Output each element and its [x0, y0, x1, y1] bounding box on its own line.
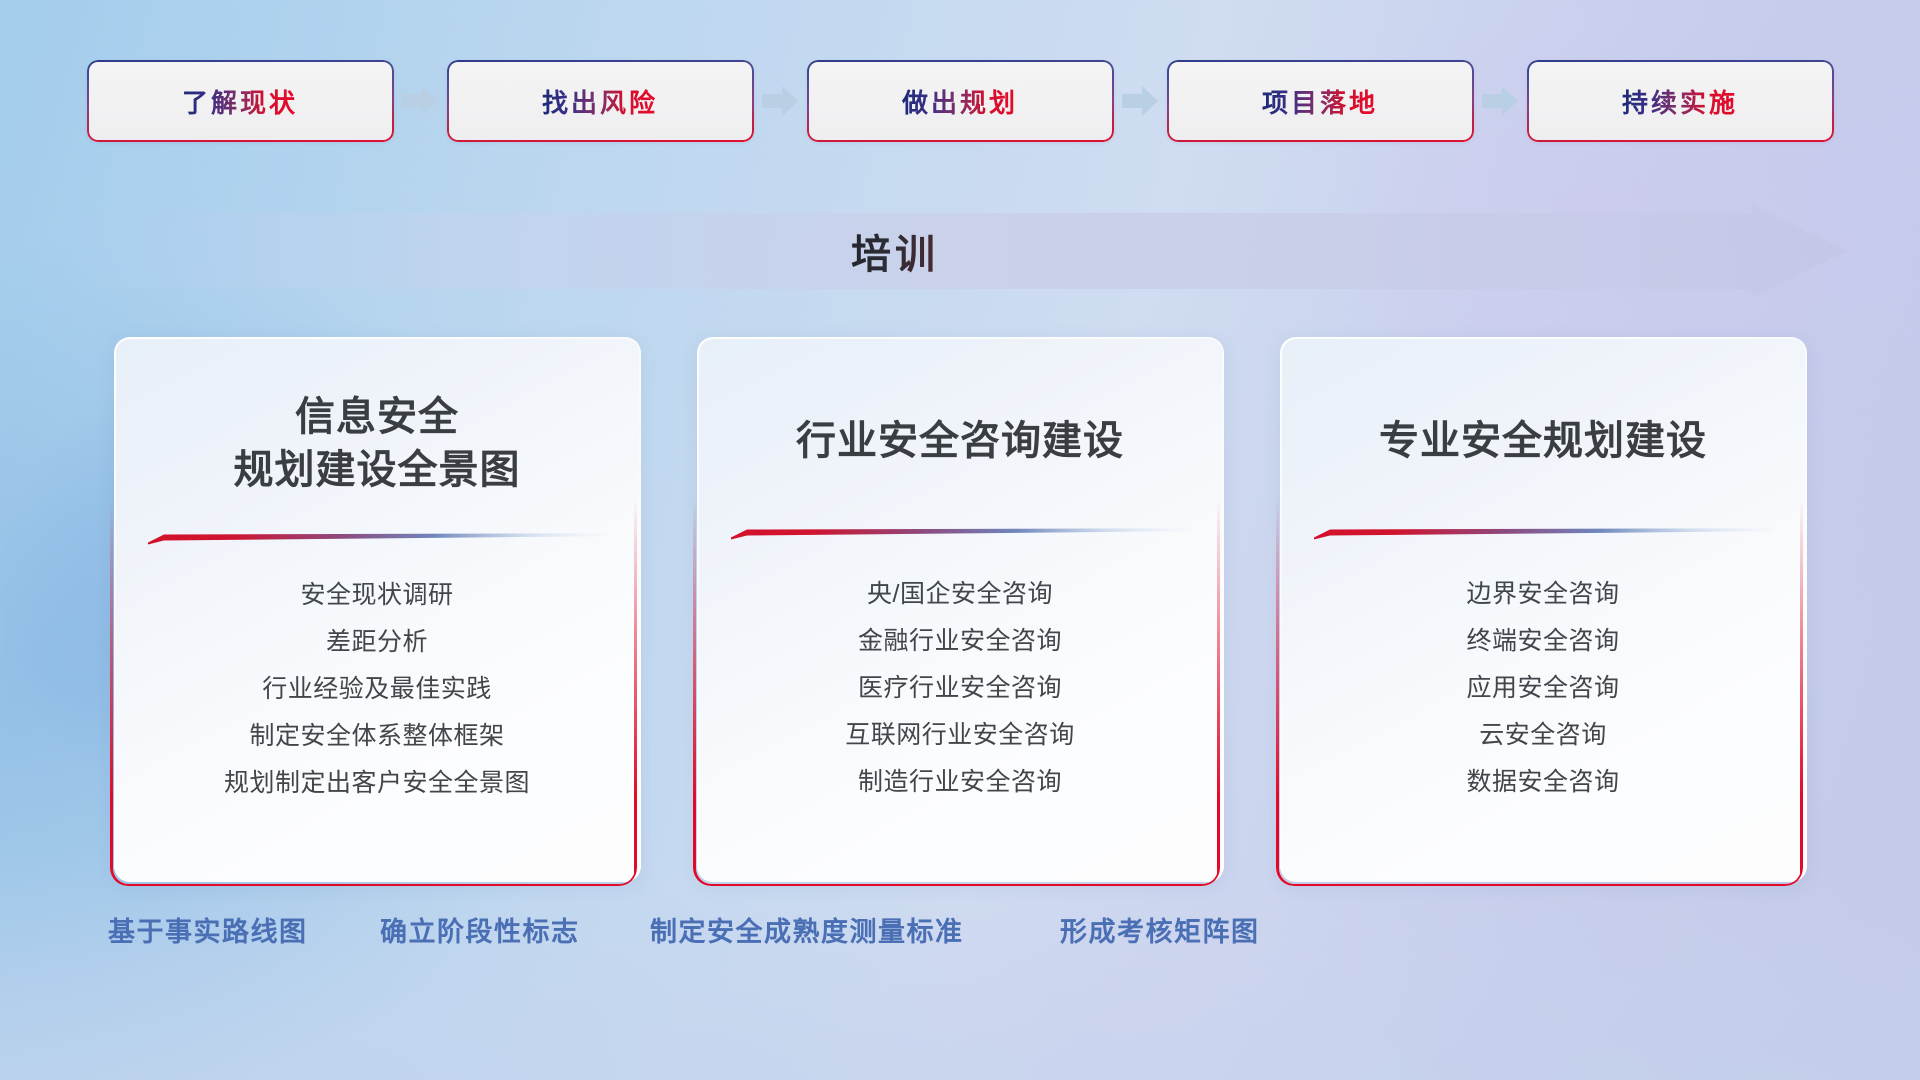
- process-step-label: 找出风险: [542, 83, 658, 120]
- card-divider-icon: [731, 526, 1190, 540]
- banner-title: 培训: [72, 205, 1848, 297]
- card-title-line: 专业安全规划建设: [1379, 415, 1707, 468]
- footnote-label-4: 形成考核矩阵图: [1060, 910, 1260, 949]
- card-title: 专业安全规划建设: [1379, 415, 1707, 468]
- card-list-item[interactable]: 安全现状调研: [300, 575, 453, 616]
- card-list-item[interactable]: 边界安全咨询: [1466, 574, 1619, 615]
- card-row: 信息安全规划建设全景图安全现状调研差距分析行业经验及最佳实践制定安全体系整体框架…: [0, 337, 1920, 882]
- card-list-item[interactable]: 医疗行业安全咨询: [858, 668, 1062, 709]
- process-step-1[interactable]: 了解现状: [87, 60, 394, 142]
- service-card-1[interactable]: 信息安全规划建设全景图安全现状调研差距分析行业经验及最佳实践制定安全体系整体框架…: [114, 337, 641, 882]
- footnote-label-3: 制定安全成熟度测量标准: [650, 910, 964, 949]
- card-list: 边界安全咨询终端安全咨询应用安全咨询云安全咨询数据安全咨询: [1314, 574, 1773, 803]
- card-list-item[interactable]: 行业经验及最佳实践: [262, 669, 492, 710]
- process-step-4[interactable]: 项目落地: [1167, 60, 1474, 142]
- banner-title-text: 培训: [851, 222, 939, 280]
- card-list-item[interactable]: 央/国企安全咨询: [867, 574, 1053, 615]
- card-title-line: 规划建设全景图: [234, 444, 521, 497]
- arrow-right-icon: [1114, 60, 1167, 142]
- process-step-3[interactable]: 做出规划: [807, 60, 1114, 142]
- process-step-5[interactable]: 持续实施: [1527, 60, 1834, 142]
- arrow-right-icon: [394, 60, 447, 142]
- card-list-item[interactable]: 终端安全咨询: [1466, 621, 1619, 662]
- footnote-label-2: 确立阶段性标志: [380, 910, 580, 949]
- card-list-item[interactable]: 金融行业安全咨询: [858, 621, 1062, 662]
- arrow-right-icon: [1474, 60, 1527, 142]
- card-title: 信息安全规划建设全景图: [234, 391, 521, 497]
- arrow-right-icon: [754, 60, 807, 142]
- card-divider-icon: [1314, 526, 1773, 540]
- card-list-item[interactable]: 制定安全体系整体框架: [249, 716, 504, 757]
- card-list: 安全现状调研差距分析行业经验及最佳实践制定安全体系整体框架规划制定出客户安全全景…: [148, 575, 607, 804]
- card-list-item[interactable]: 差距分析: [326, 622, 428, 663]
- service-card-3[interactable]: 专业安全规划建设边界安全咨询终端安全咨询应用安全咨询云安全咨询数据安全咨询: [1280, 337, 1807, 882]
- card-list: 央/国企安全咨询金融行业安全咨询医疗行业安全咨询互联网行业安全咨询制造行业安全咨…: [731, 574, 1190, 803]
- process-step-label: 项目落地: [1262, 83, 1378, 120]
- footnote-label-1: 基于事实路线图: [108, 910, 308, 949]
- process-step-2[interactable]: 找出风险: [447, 60, 754, 142]
- card-title-line: 行业安全咨询建设: [796, 415, 1124, 468]
- card-divider-icon: [148, 531, 607, 545]
- footnote-row: 基于事实路线图确立阶段性标志制定安全成熟度测量标准形成考核矩阵图: [0, 910, 1920, 966]
- process-step-label: 持续实施: [1622, 83, 1738, 120]
- card-title-line: 信息安全: [234, 391, 521, 444]
- card-title: 行业安全咨询建设: [796, 415, 1124, 468]
- service-card-2[interactable]: 行业安全咨询建设央/国企安全咨询金融行业安全咨询医疗行业安全咨询互联网行业安全咨…: [697, 337, 1224, 882]
- card-list-item[interactable]: 数据安全咨询: [1466, 762, 1619, 803]
- card-list-item[interactable]: 规划制定出客户安全全景图: [224, 763, 530, 804]
- card-list-item[interactable]: 互联网行业安全咨询: [845, 715, 1075, 756]
- process-step-label: 了解现状: [182, 83, 298, 120]
- process-step-label: 做出规划: [902, 83, 1018, 120]
- training-banner: 培训: [72, 205, 1848, 297]
- card-list-item[interactable]: 制造行业安全咨询: [858, 762, 1062, 803]
- card-list-item[interactable]: 云安全咨询: [1479, 715, 1607, 756]
- card-list-item[interactable]: 应用安全咨询: [1466, 668, 1619, 709]
- process-step-row: 了解现状找出风险做出规划项目落地持续实施: [0, 60, 1920, 142]
